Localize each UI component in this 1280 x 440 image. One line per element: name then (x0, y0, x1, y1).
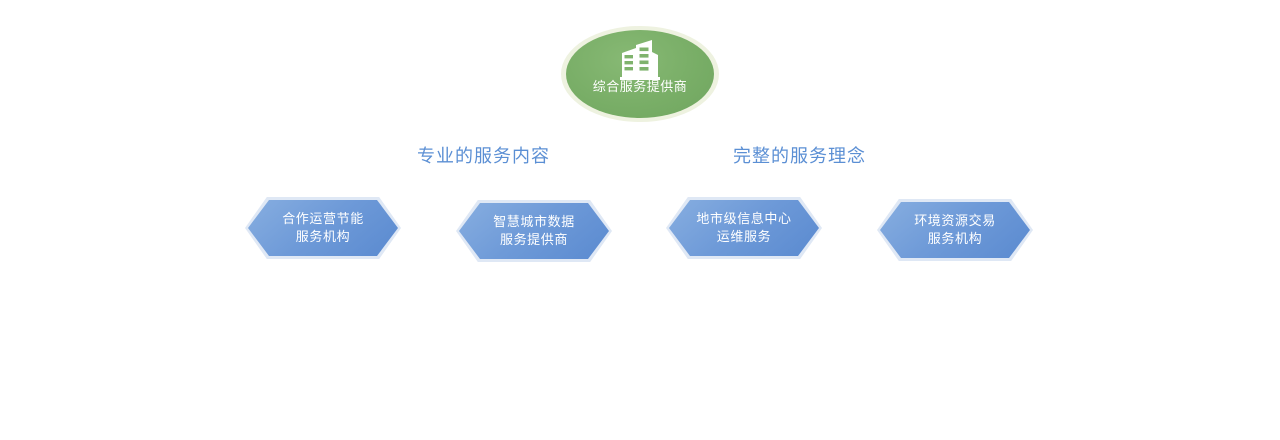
hexagon-label-line2: 服务提供商 (500, 231, 568, 249)
diagram-canvas: 综合服务提供商 专业的服务内容 完整的服务理念 合作运营节能 服务机构 智慧城市… (0, 0, 1280, 440)
hexagon-label: 智慧城市数据 服务提供商 (456, 200, 612, 262)
root-node-label: 综合服务提供商 (561, 78, 719, 96)
hexagon-label-line2: 运维服务 (717, 228, 771, 246)
hexagon-label-line1: 环境资源交易 (914, 212, 996, 230)
section-heading-service-content: 专业的服务内容 (417, 145, 550, 167)
hexagon-label-line2: 服务机构 (296, 228, 350, 246)
hexagon-node-cooperative-energy-saving[interactable]: 合作运营节能 服务机构 (245, 197, 401, 259)
hexagon-label-line1: 智慧城市数据 (493, 213, 575, 231)
hexagon-label-line1: 合作运营节能 (282, 210, 364, 228)
office-building-icon (618, 39, 662, 81)
hexagon-label-line2: 服务机构 (928, 230, 982, 248)
hexagon-label: 环境资源交易 服务机构 (877, 199, 1033, 261)
root-node-comprehensive-service-provider[interactable]: 综合服务提供商 (561, 26, 719, 122)
hexagon-node-environmental-resource-trading[interactable]: 环境资源交易 服务机构 (877, 199, 1033, 261)
hexagon-node-smart-city-data[interactable]: 智慧城市数据 服务提供商 (456, 200, 612, 262)
hexagon-label: 地市级信息中心 运维服务 (666, 197, 822, 259)
hexagon-label: 合作运营节能 服务机构 (245, 197, 401, 259)
hexagon-node-municipal-info-center[interactable]: 地市级信息中心 运维服务 (666, 197, 822, 259)
section-heading-service-philosophy: 完整的服务理念 (733, 145, 866, 167)
hexagon-label-line1: 地市级信息中心 (696, 210, 791, 228)
